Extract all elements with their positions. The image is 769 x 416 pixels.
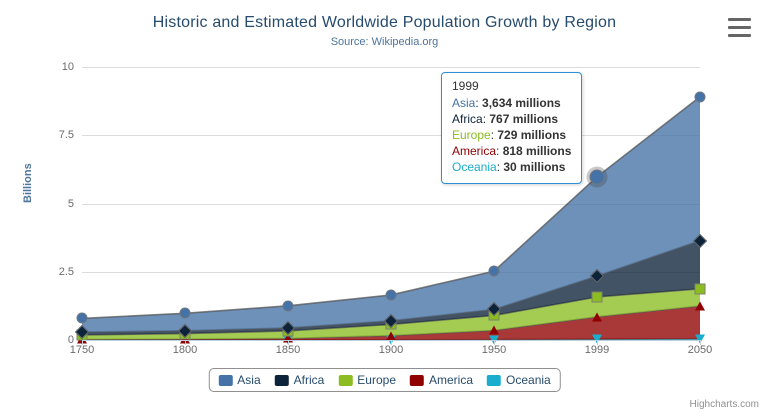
tooltip-row: Africa: 767 millions: [452, 111, 571, 127]
hamburger-bar: [728, 34, 751, 37]
data-point-asia[interactable]: [590, 169, 605, 184]
y-axis-tick-label: 7.5: [59, 129, 74, 141]
x-axis-tick: [494, 340, 495, 345]
data-point-asia[interactable]: [386, 289, 397, 300]
tooltip-rows: Asia: 3,634 millionsAfrica: 767 millions…: [452, 95, 571, 175]
legend-swatch: [275, 375, 289, 386]
tooltip-series-value: 3,634 millions: [482, 96, 561, 110]
y-axis-tick-label: 5: [68, 198, 74, 210]
legend-label: Europe: [357, 373, 396, 387]
tooltip-header: 1999: [452, 79, 571, 93]
data-point-america[interactable]: [386, 331, 396, 340]
x-axis-tick: [391, 340, 392, 345]
chart-legend: AsiaAfricaEuropeAmericaOceania: [208, 368, 560, 392]
data-point-america[interactable]: [592, 312, 602, 321]
data-point-europe[interactable]: [695, 283, 706, 294]
legend-label: Asia: [237, 373, 260, 387]
tooltip-series-value: 818 millions: [503, 144, 572, 158]
tooltip-series-value: 729 millions: [497, 128, 566, 142]
x-axis-tick: [597, 340, 598, 345]
x-axis-tick: [288, 340, 289, 345]
tooltip-series-name: Asia: [452, 96, 475, 110]
x-axis-tick-label: 1950: [482, 344, 506, 356]
tooltip-series-name: America: [452, 144, 496, 158]
data-point-america[interactable]: [489, 326, 499, 335]
x-axis-tick-label: 1800: [173, 344, 197, 356]
y-axis-title: Billions: [22, 163, 34, 203]
legend-swatch: [487, 375, 501, 386]
x-axis-tick: [185, 340, 186, 345]
tooltip-row: Europe: 729 millions: [452, 127, 571, 143]
hamburger-bar: [728, 26, 751, 29]
data-point-europe[interactable]: [592, 291, 603, 302]
legend-swatch: [410, 375, 424, 386]
tooltip-series-value: 30 millions: [503, 160, 565, 174]
x-axis-tick: [82, 340, 83, 345]
legend-label: America: [429, 373, 473, 387]
legend-item-america[interactable]: America: [410, 373, 473, 387]
tooltip-series-name: Africa: [452, 112, 483, 126]
x-axis-tick-label: 2050: [688, 344, 712, 356]
x-axis-tick: [700, 340, 701, 345]
y-axis-tick-label: 2.5: [59, 266, 74, 278]
data-point-asia[interactable]: [695, 91, 706, 102]
data-point-asia[interactable]: [489, 266, 500, 277]
legend-item-oceania[interactable]: Oceania: [487, 373, 551, 387]
x-axis-tick-label: 1850: [276, 344, 300, 356]
tooltip: 1999 Asia: 3,634 millionsAfrica: 767 mil…: [441, 72, 582, 184]
legend-label: Africa: [294, 373, 325, 387]
chart-container: Historic and Estimated Worldwide Populat…: [0, 0, 769, 416]
tooltip-series-name: Europe: [452, 128, 491, 142]
x-axis-tick-label: 1999: [585, 344, 609, 356]
data-point-asia[interactable]: [77, 313, 88, 324]
legend-swatch: [338, 375, 352, 386]
legend-label: Oceania: [506, 373, 551, 387]
tooltip-series-value: 767 millions: [489, 112, 558, 126]
legend-item-africa[interactable]: Africa: [275, 373, 325, 387]
plot-area: 02.557.510: [82, 67, 700, 340]
highcharts-credit: Highcharts.com: [690, 399, 759, 410]
x-axis-tick-label: 1900: [379, 344, 403, 356]
x-axis-tick-label: 1750: [70, 344, 94, 356]
hamburger-menu-icon[interactable]: [728, 18, 751, 37]
data-point-america[interactable]: [695, 301, 705, 310]
data-point-asia[interactable]: [180, 308, 191, 319]
hamburger-bar: [728, 18, 751, 21]
tooltip-row: Oceania: 30 millions: [452, 159, 571, 175]
chart-title: Historic and Estimated Worldwide Populat…: [0, 14, 769, 32]
legend-item-asia[interactable]: Asia: [218, 373, 260, 387]
tooltip-series-name: Oceania: [452, 160, 497, 174]
tooltip-row: America: 818 millions: [452, 143, 571, 159]
data-point-asia[interactable]: [283, 300, 294, 311]
tooltip-row: Asia: 3,634 millions: [452, 95, 571, 111]
legend-item-europe[interactable]: Europe: [338, 373, 396, 387]
chart-subtitle: Source: Wikipedia.org: [0, 36, 769, 48]
y-axis-tick-label: 10: [62, 61, 74, 73]
legend-swatch: [218, 375, 232, 386]
